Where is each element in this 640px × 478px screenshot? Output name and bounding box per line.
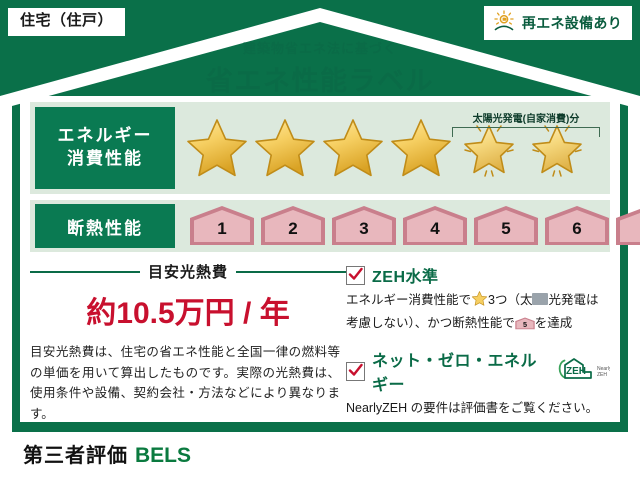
star-icon xyxy=(251,114,319,182)
evaluation-date: 評価日 2024年12月26日 xyxy=(458,434,626,455)
sun-icon xyxy=(492,10,516,36)
energy-label-line2: 消費性能 xyxy=(35,148,175,171)
title-subtitle: 建築物省エネ法に基づく xyxy=(0,38,640,57)
bels-jp-label: 第三者評価 xyxy=(23,439,128,468)
insulation-grade-badge: 7 xyxy=(615,205,640,247)
zeh-standard-title: ZEH水準 xyxy=(372,263,439,287)
label-title: 建築物省エネ法に基づく 省エネ性能ラベル xyxy=(0,38,640,98)
lower-section: 目安光熱費 約10.5万円 / 年 目安光熱費は、住宅の省エネ性能と全国一律の燃… xyxy=(30,259,610,414)
zeh-house-logo-icon: ZEH Nearly ZEH xyxy=(554,356,610,387)
evaluation-id: d8ba723e-bdbd-40c7 xyxy=(458,457,626,469)
grade-number: 1 xyxy=(189,219,255,239)
cost-value: 約10.5万円 / 年 xyxy=(30,288,346,332)
zeh-standard-item: ZEH水準 エネルギー消費性能で3つ（太光発電は考慮しない）、かつ断熱性能で5を… xyxy=(346,263,610,337)
star-icon xyxy=(471,290,488,313)
grade-number: 6 xyxy=(544,219,610,239)
cost-rule-left xyxy=(30,271,140,273)
grade-number: 7 xyxy=(615,219,640,239)
insulation-grade-badge: 6 xyxy=(544,205,610,247)
insulation-performance-row: 断熱性能 1 2 xyxy=(30,200,610,252)
star-icon xyxy=(387,114,455,182)
redacted-text-icon xyxy=(532,293,548,305)
zeh-desc-part-b: 3つ（太 xyxy=(488,293,532,307)
net-zero-description: NearlyZEH の要件は評価書をご覧ください。 xyxy=(346,398,610,418)
evaluation-info: 評価日 2024年12月26日 d8ba723e-bdbd-40c7 xyxy=(458,434,626,469)
net-zero-head: ネット・ゼロ・エネルギー ZEH Nearly ZEH xyxy=(346,347,610,395)
insulation-grade-badge: 2 xyxy=(260,205,326,247)
star-icon xyxy=(319,114,387,182)
energy-performance-label: エネルギー 消費性能 xyxy=(35,107,175,189)
zeh-desc-part-d: を達成 xyxy=(535,316,573,330)
footer: 第三者評価 BELS センカIII 202 評価日 2024年12月26日 d8… xyxy=(0,430,640,478)
svg-text:ZEH: ZEH xyxy=(566,366,586,377)
insulation-grade-badge: 5 xyxy=(473,205,539,247)
grade-number: 2 xyxy=(260,219,326,239)
checkbox-checked-icon xyxy=(346,362,365,381)
zeh-column: ZEH水準 エネルギー消費性能で3つ（太光発電は考慮しない）、かつ断熱性能で5を… xyxy=(346,259,610,414)
room-number: 202 xyxy=(293,447,316,462)
building-identity: センカIII 202 xyxy=(222,444,316,463)
net-zero-energy-item: ネット・ゼロ・エネルギー ZEH Nearly ZEH NearlyZEH の要… xyxy=(346,347,610,418)
checkbox-checked-icon xyxy=(346,266,365,285)
building-name: センカIII xyxy=(222,447,275,462)
renewable-badge-label: 再エネ設備あり xyxy=(522,16,622,30)
energy-label-line1: エネルギー xyxy=(35,125,175,148)
house-type-tag: 住宅（住戸） xyxy=(8,8,125,36)
star-icon xyxy=(183,114,251,182)
cost-note: 目安光熱費は、住宅の省エネ性能と全国一律の燃料等の単価を用いて算出したものです。… xyxy=(30,342,346,425)
insulation-grade-badge: 3 xyxy=(331,205,397,247)
cost-heading-row: 目安光熱費 xyxy=(30,261,346,282)
title-main: 省エネ性能ラベル xyxy=(0,59,640,98)
energy-cost-column: 目安光熱費 約10.5万円 / 年 目安光熱費は、住宅の省エネ性能と全国一律の燃… xyxy=(30,259,346,414)
bels-en-label: BELS xyxy=(135,444,191,468)
grade-number: 5 xyxy=(473,219,539,239)
insulation-grade-scale: 1 2 3 xyxy=(175,200,640,252)
grade-number: 3 xyxy=(331,219,397,239)
insulation-grade-inline-icon: 5 xyxy=(515,316,535,337)
net-zero-title: ネット・ゼロ・エネルギー xyxy=(372,347,543,395)
cost-heading: 目安光熱費 xyxy=(148,261,228,282)
insulation-grade-badge: 4 xyxy=(402,205,468,247)
renewable-equipment-badge: 再エネ設備あり xyxy=(484,6,632,40)
zeh-desc-part-a: エネルギー消費性能で xyxy=(346,293,471,307)
insulation-performance-label: 断熱性能 xyxy=(35,204,175,248)
energy-star-rating: 太陽光発電(自家消費)分 xyxy=(175,102,610,194)
svg-text:ZEH: ZEH xyxy=(597,372,607,378)
grade-number: 4 xyxy=(402,219,468,239)
zeh-standard-head: ZEH水準 xyxy=(346,263,610,287)
bracket-line xyxy=(452,127,600,137)
cost-rule-right xyxy=(236,271,346,273)
solar-bracket-label: 太陽光発電(自家消費)分 xyxy=(452,110,600,125)
solar-contribution-bracket: 太陽光発電(自家消費)分 xyxy=(452,110,600,137)
insulation-grade-badge: 1 xyxy=(189,205,255,247)
bels-certification-badge: 第三者評価 BELS xyxy=(14,436,200,472)
label-card: エネルギー 消費性能 xyxy=(20,96,620,422)
energy-performance-row: エネルギー 消費性能 xyxy=(30,102,610,194)
zeh-standard-description: エネルギー消費性能で3つ（太光発電は考慮しない）、かつ断熱性能で5を達成 xyxy=(346,290,610,337)
svg-text:5: 5 xyxy=(523,320,527,329)
